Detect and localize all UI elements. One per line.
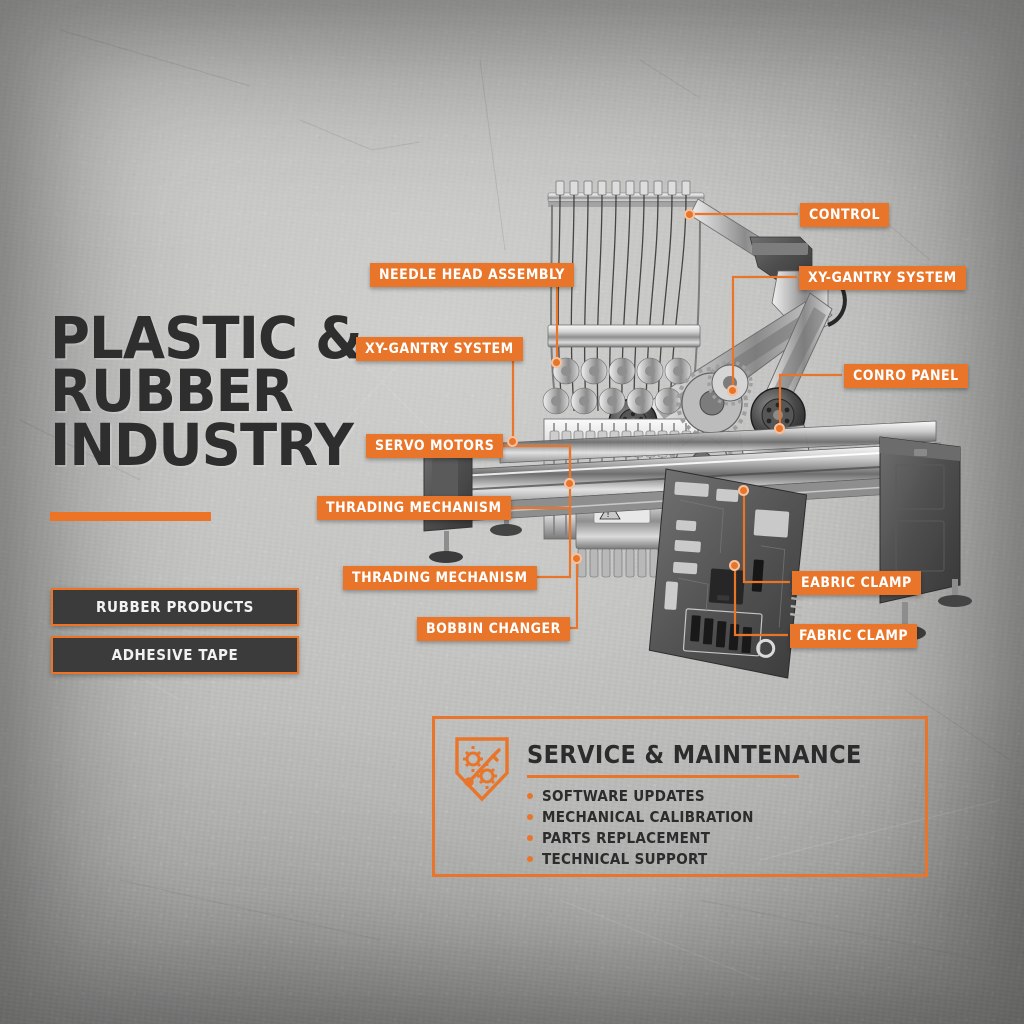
category-button-adhesive-tape[interactable]: ADHESIVE TAPE	[51, 636, 299, 674]
callout-thrading-mechanism-lower[interactable]: THRADING MECHANISM	[343, 566, 537, 590]
service-list-item: MECHANICAL CALIBRATION	[527, 806, 754, 827]
callout-label-text: FABRIC CLAMP	[799, 628, 908, 644]
service-list-item-label: PARTS REPLACEMENT	[542, 829, 710, 847]
page-title-line-3: INDUSTRY	[50, 419, 360, 472]
category-button-label: RUBBER PRODUCTS	[96, 598, 254, 616]
service-panel-list: SOFTWARE UPDATES MECHANICAL CALIBRATION …	[527, 785, 754, 869]
callout-label-text: THRADING MECHANISM	[352, 570, 528, 586]
bullet-icon	[527, 856, 533, 862]
bullet-icon	[527, 793, 533, 799]
service-list-item-label: MECHANICAL CALIBRATION	[542, 808, 754, 826]
shield-gear-wrench-icon	[453, 735, 511, 803]
callout-label-text: THRADING MECHANISM	[326, 500, 502, 516]
callout-label-text: CONRO PANEL	[853, 368, 959, 384]
service-list-item: SOFTWARE UPDATES	[527, 785, 754, 806]
service-list-item-label: TECHNICAL SUPPORT	[542, 850, 708, 868]
callout-bobbin-changer[interactable]: BOBBIN CHANGER	[417, 617, 570, 641]
bullet-icon	[527, 835, 533, 841]
callout-dot-bobbin-changer	[571, 553, 582, 564]
callout-xy-gantry-system-right[interactable]: XY-GANTRY SYSTEM	[799, 266, 966, 290]
callout-dot-needle-head-assembly	[551, 357, 562, 368]
service-list-item-label: SOFTWARE UPDATES	[542, 787, 705, 805]
service-list-item: TECHNICAL SUPPORT	[527, 848, 754, 869]
page-title: PLASTIC & RUBBER INDUSTRY	[50, 312, 380, 472]
infographic-canvas: PLASTIC & RUBBER INDUSTRY RUBBER PRODUCT…	[0, 0, 1024, 1024]
callout-label-text: EABRIC CLAMP	[801, 575, 912, 591]
callout-label-text: BOBBIN CHANGER	[426, 621, 561, 637]
callout-eabric-clamp[interactable]: EABRIC CLAMP	[792, 571, 921, 595]
callout-conro-panel[interactable]: CONRO PANEL	[844, 364, 968, 388]
callout-dot-servo-motors	[564, 478, 575, 489]
service-list-item: PARTS REPLACEMENT	[527, 827, 754, 848]
category-button-rubber-products[interactable]: RUBBER PRODUCTS	[51, 588, 299, 626]
bullet-icon	[527, 814, 533, 820]
callout-label-text: NEEDLE HEAD ASSEMBLY	[379, 267, 565, 283]
callout-thrading-mechanism-upper[interactable]: THRADING MECHANISM	[317, 496, 511, 520]
service-panel-title: SERVICE & MAINTENANCE	[527, 740, 862, 769]
callout-needle-head-assembly[interactable]: NEEDLE HEAD ASSEMBLY	[370, 263, 574, 287]
title-accent-rule	[50, 512, 211, 521]
callout-label-text: XY-GANTRY SYSTEM	[808, 270, 957, 286]
callout-fabric-clamp[interactable]: FABRIC CLAMP	[790, 624, 917, 648]
callout-dot-xy-gantry-system-right	[727, 385, 738, 396]
callout-label-text: SERVO MOTORS	[375, 438, 494, 454]
callout-control[interactable]: CONTROL	[800, 203, 889, 227]
callout-xy-gantry-system-left[interactable]: XY-GANTRY SYSTEM	[356, 337, 523, 361]
callout-dot-xy-gantry-system-left	[507, 436, 518, 447]
callout-servo-motors[interactable]: SERVO MOTORS	[366, 434, 503, 458]
service-maintenance-panel: SERVICE & MAINTENANCE SOFTWARE UPDATES M…	[432, 716, 928, 877]
industrial-embroidery-machine-photo: !	[380, 175, 1000, 685]
callout-dot-conro-panel	[774, 423, 785, 434]
callout-label-text: XY-GANTRY SYSTEM	[365, 341, 514, 357]
callout-dot-eabric-clamp	[738, 485, 749, 496]
service-panel-title-rule	[527, 775, 799, 778]
callout-label-text: CONTROL	[809, 207, 880, 223]
callout-dot-fabric-clamp	[729, 560, 740, 571]
callout-dot-control	[684, 209, 695, 220]
category-button-label: ADHESIVE TAPE	[112, 646, 239, 664]
